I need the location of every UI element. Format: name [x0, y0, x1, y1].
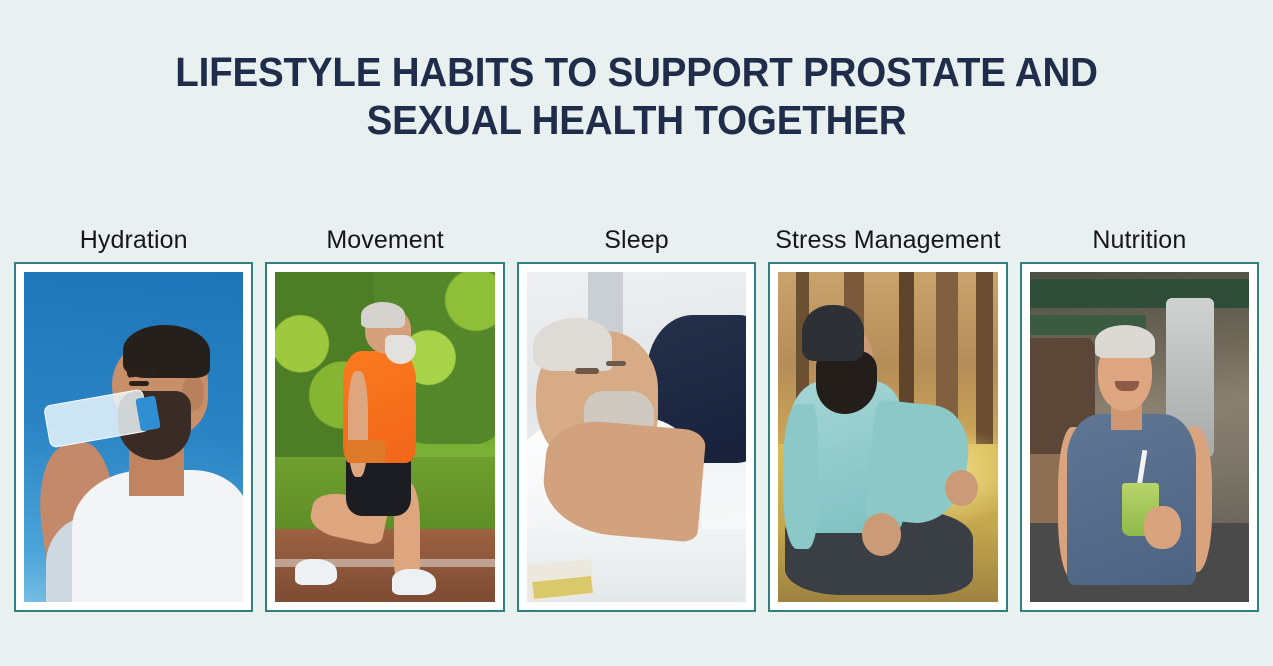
ceiling-beam-shape [1030, 279, 1249, 309]
left-arm-shape [783, 404, 818, 549]
habit-card-nutrition [1020, 262, 1259, 612]
habit-label-sleep: Sleep [517, 186, 756, 262]
grey-hair-shape [361, 302, 405, 328]
habit-label-nutrition: Nutrition [1020, 186, 1259, 262]
closed-eye-left-shape [575, 368, 599, 374]
grey-hair-shape [1095, 325, 1154, 358]
white-beard-shape [385, 335, 416, 365]
photo-man-lunging-dumbbells [275, 272, 494, 602]
dumbbell-shape [346, 440, 385, 463]
habit-column-stress-management: Stress Management [768, 186, 1007, 612]
grey-hair-shape [533, 318, 612, 371]
photo-man-drinking-water [24, 272, 243, 602]
photo-man-green-smoothie [1030, 272, 1249, 602]
photo-man-meditating [778, 272, 997, 602]
habit-label-movement: Movement [265, 186, 504, 262]
habit-column-sleep: Sleep [517, 186, 756, 612]
habit-column-hydration: Hydration [14, 186, 253, 612]
habit-column-nutrition: Nutrition [1020, 186, 1259, 612]
hand-shape [1144, 506, 1181, 549]
habits-card-strip: Hydration Movement [14, 186, 1259, 612]
habit-card-hydration [14, 262, 253, 612]
closed-eye-shape [129, 381, 149, 386]
habit-label-stress-management: Stress Management [768, 186, 1007, 262]
beanie-hat-shape [802, 305, 863, 361]
right-hand-mudra-shape [945, 470, 978, 506]
smile-shape [1115, 381, 1139, 391]
habit-card-stress-management [768, 262, 1007, 612]
habit-card-movement [265, 262, 504, 612]
habit-label-hydration: Hydration [14, 186, 253, 262]
page-title: LIFESTYLE HABITS TO SUPPORT PROSTATE AND… [38, 48, 1235, 145]
front-shoe-shape [392, 569, 436, 595]
habit-column-movement: Movement [265, 186, 504, 612]
left-hand-mudra-shape [862, 513, 901, 556]
back-shoe-shape [295, 559, 337, 585]
habit-card-sleep [517, 262, 756, 612]
photo-man-sleeping [527, 272, 746, 602]
closed-eye-right-shape [606, 361, 626, 366]
